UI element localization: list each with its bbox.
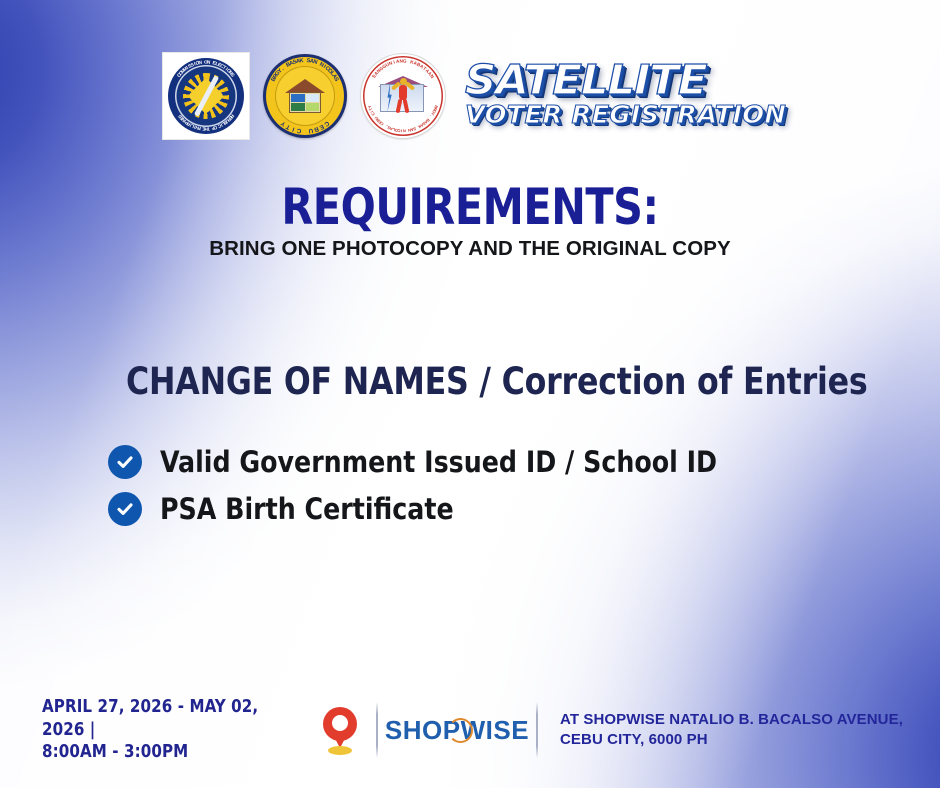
satellite-voter-registration-wordmark: SATELLITE VOTER REGISTRATION (465, 61, 777, 126)
barangay-basak-san-nicolas-seal: BRGY. BASAK SAN NICOLASCEBU CITY (263, 54, 347, 138)
check-circle-icon (108, 445, 142, 479)
poster-canvas: COMMISSION ON ELECTIONSREPUBLIC OF THE P… (0, 0, 940, 788)
venue-address-line-1: AT SHOPWISE NATALIO B. BACALSO AVENUE, (560, 710, 903, 730)
list-item-label: Valid Government Issued ID / School ID (160, 445, 717, 479)
venue-address-line-2: CEBU CITY, 6000 PH (560, 730, 903, 750)
location-pin-icon (323, 707, 357, 753)
list-item: Valid Government Issued ID / School ID (108, 438, 868, 485)
event-date-time: APRIL 27, 2026 - MAY 02, 2026 | 8:00AM -… (42, 696, 294, 763)
page-subtitle: BRING ONE PHOTOCOPY AND THE ORIGINAL COP… (0, 237, 940, 261)
comelec-seal: COMMISSION ON ELECTIONSREPUBLIC OF THE P… (163, 53, 249, 139)
check-circle-icon (108, 492, 142, 526)
shopwise-logo-wrap: SHOP WISE (378, 715, 536, 746)
location-pin-wrap (304, 707, 376, 753)
sangguniang-kabataan-seal: SANGGUNIANG KABATAANBRGY. BASAK SAN NICO… (361, 54, 445, 138)
footer-bar: APRIL 27, 2026 - MAY 02, 2026 | 8:00AM -… (0, 698, 940, 762)
section-heading: CHANGE OF NAMES / Correction of Entries (126, 360, 868, 403)
footer-divider-2 (536, 702, 538, 758)
event-time-line-2: 8:00AM - 3:00PM (42, 741, 294, 763)
shopwise-logo: SHOP WISE (385, 715, 529, 746)
wordmark-line-satellite: SATELLITE (465, 61, 706, 100)
list-item-label: PSA Birth Certificate (160, 492, 454, 526)
logo-strip: COMMISSION ON ELECTIONSREPUBLIC OF THE P… (0, 44, 940, 148)
requirements-list: Valid Government Issued ID / School ID P… (108, 438, 868, 532)
venue-address: AT SHOPWISE NATALIO B. BACALSO AVENUE, C… (560, 710, 903, 751)
event-date-line-1: APRIL 27, 2026 - MAY 02, 2026 | (42, 696, 294, 741)
shopwise-ring-icon (448, 718, 473, 743)
page-title: REQUIREMENTS: (38, 178, 903, 236)
list-item: PSA Birth Certificate (108, 485, 868, 532)
wordmark-line-voter-registration: VOTER REGISTRATION (465, 102, 786, 127)
